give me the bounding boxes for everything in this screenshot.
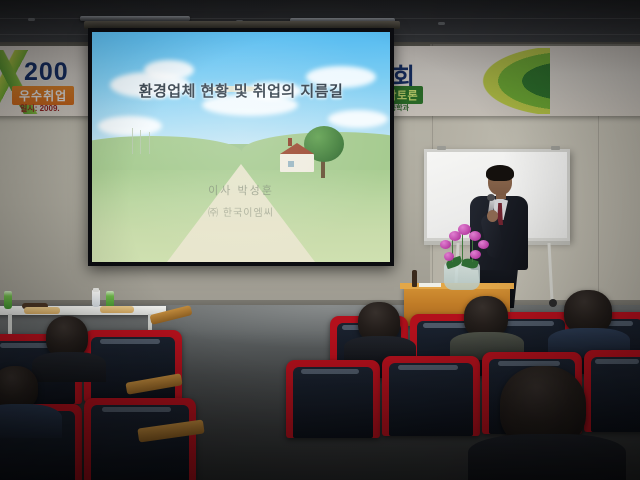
house-roof <box>280 143 314 154</box>
seat-back <box>293 367 373 438</box>
soda-bottle-icon <box>4 291 12 309</box>
seat-highlight <box>301 369 359 374</box>
slide-company-name: ㈜ 한국이엠씨 <box>92 204 390 219</box>
seat-back <box>591 357 640 432</box>
attendee-shoulders <box>468 434 626 480</box>
cloud-icon <box>328 110 388 128</box>
ceiling-light-icon <box>438 22 445 25</box>
whiteboard-clip-icon <box>437 146 446 150</box>
snack-plate <box>100 306 134 313</box>
projection-screen: 환경업체 현황 및 취업의 지름길 이사 박성훈 ㈜ 한국이엠씨 <box>92 32 390 262</box>
snack-plate <box>24 307 60 314</box>
orchid-petal-icon <box>478 240 489 249</box>
cloud-icon <box>144 60 194 80</box>
orchid-petal-icon <box>440 240 451 249</box>
paper-sheet <box>419 283 441 287</box>
attendee-shoulders <box>0 404 62 438</box>
seat-highlight <box>100 339 161 344</box>
speaker-hair <box>486 165 514 181</box>
caster-wheel-icon <box>549 299 557 307</box>
whiteboard-clip-icon <box>551 146 560 150</box>
seat-highlight <box>102 407 171 412</box>
seat-back <box>91 405 189 480</box>
orchid-petal-icon <box>444 252 454 261</box>
speaker-hand <box>487 210 498 222</box>
fence-pole-icon <box>132 128 133 154</box>
bottle-icon <box>412 270 417 287</box>
seat-highlight <box>595 359 638 364</box>
fence-pole-icon <box>149 132 150 154</box>
cup-lid-icon <box>93 288 99 292</box>
seat-highlight <box>398 365 459 370</box>
orchid-petal-icon <box>469 231 481 241</box>
seat-highlight <box>505 321 555 326</box>
orchid-petal-icon <box>470 250 481 259</box>
seat-back <box>389 363 473 436</box>
fence-pole-icon <box>140 130 141 154</box>
banner-swoosh-icon <box>432 48 550 114</box>
microphone-head-icon <box>487 194 495 201</box>
attendee-shoulders <box>32 352 106 382</box>
banner-date-text: 일시: 2009. <box>20 103 60 114</box>
ceiling-light-icon <box>28 18 35 21</box>
chimney-icon <box>288 138 292 146</box>
slide-title: 환경업체 현황 및 취업의 지름길 <box>92 80 390 101</box>
house-window <box>288 161 294 167</box>
seat[interactable] <box>382 356 480 436</box>
slide-presenter-name: 이사 박성훈 <box>92 182 390 198</box>
banner-year-text: 200 <box>24 58 69 87</box>
seminar-photo: 200 우수취업 일시: 2009. 수회 강전탁토론 학교 환경공학과 환경 <box>0 0 640 480</box>
seat[interactable] <box>584 350 640 432</box>
cloud-icon <box>98 116 162 136</box>
paper-cup-icon <box>92 290 100 307</box>
house-icon <box>280 154 314 172</box>
seat[interactable] <box>286 360 380 438</box>
